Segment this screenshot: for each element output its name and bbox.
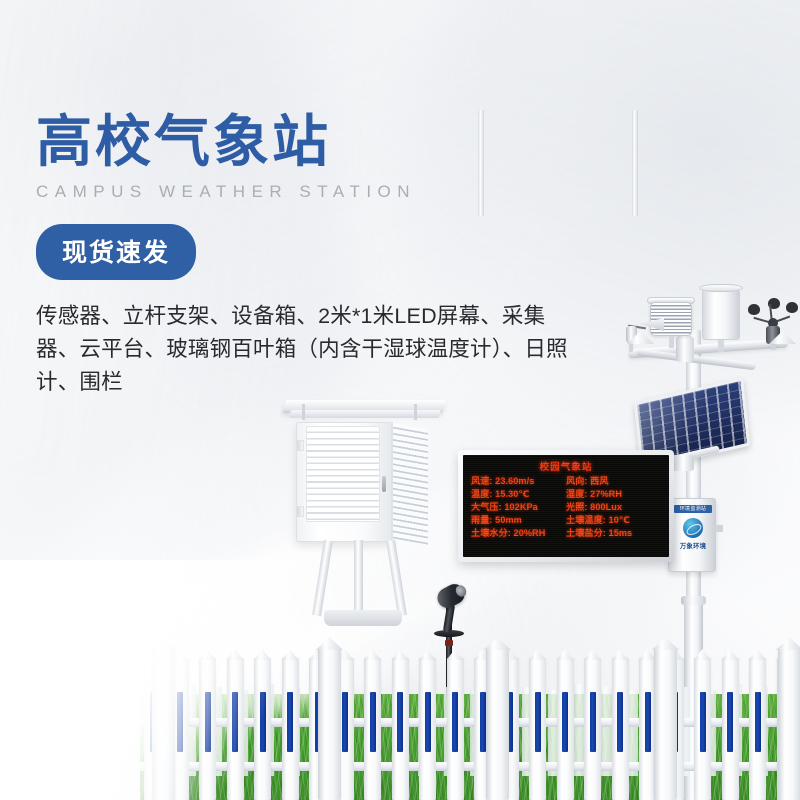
led-row: 雨量: 50mm 土壤温度: 10℃: [469, 514, 663, 527]
led-cell-illuminance: 光照: 800Lux: [566, 501, 663, 514]
led-row: 土壤水分: 20%RH 土壤盐分: 15ms: [469, 527, 663, 540]
enclosure-label: 环境监测站: [674, 505, 712, 513]
fence-picket-stripe: [370, 692, 376, 752]
shelter-door-handle: [382, 476, 386, 492]
fence-picket-stripe: [562, 692, 568, 752]
fence-picket-stripe: [397, 692, 403, 752]
fence-post: [654, 648, 677, 800]
fence-picket-stripe: [755, 692, 761, 752]
fence-post: [486, 648, 509, 800]
page-subtitle: CAMPUS WEATHER STATION: [36, 182, 636, 202]
fence-picket-stripe: [617, 692, 623, 752]
fence-picket-stripe: [590, 692, 596, 752]
led-title: 校园气象站: [469, 459, 663, 473]
fence-picket-stripe: [452, 692, 458, 752]
led-cell-wind-speed: 风速: 23.60m/s: [469, 475, 566, 488]
led-row: 风速: 23.60m/s 风向: 西风: [469, 475, 663, 488]
led-cell-pressure: 大气压: 102KPa: [469, 501, 566, 514]
equipment-enclosure: 环境监测站 万象环境: [668, 498, 716, 572]
fence-picket-stripe: [700, 692, 706, 752]
fence-picket-stripe: [535, 692, 541, 752]
fence-picket-stripe: [645, 692, 651, 752]
mast-hub: [676, 336, 694, 362]
led-cell-temperature: 温度: 15.30℃: [469, 488, 566, 501]
brand-globe-icon: [683, 518, 703, 538]
shelter-side-louvers: [392, 422, 428, 548]
rain-gauge-icon: [702, 288, 740, 340]
product-description: 传感器、立杆支架、设备箱、2米*1米LED屏幕、采集器、云平台、玻璃钢百叶箱（内…: [36, 300, 584, 398]
led-cell-wind-direction: 风向: 西风: [566, 475, 663, 488]
solar-panel-clamp: [672, 455, 694, 471]
status-badge: 现货速发: [36, 224, 196, 280]
mast-pole: [686, 330, 701, 630]
fence-post: [318, 648, 341, 800]
mast-collar: [681, 596, 706, 605]
led-screen: 校园气象站 风速: 23.60m/s 风向: 西风: [463, 455, 669, 557]
louvered-screen-shelter: [296, 414, 428, 546]
led-cell-rainfall: 雨量: 50mm: [469, 514, 566, 527]
led-cell-soil-temperature: 土壤温度: 10℃: [566, 514, 663, 527]
fence-post: [778, 648, 800, 800]
headline-block: 高校气象站 CAMPUS WEATHER STATION 现货速发 传感器、立杆…: [36, 112, 636, 398]
led-cell-soil-moisture: 土壤水分: 20%RH: [469, 527, 566, 540]
anemometer-icon: [748, 300, 798, 344]
product-banner: 环境监测站 万象环境: [0, 0, 800, 800]
led-readout-rows: 风速: 23.60m/s 风向: 西风 温度: 15.30℃: [469, 475, 663, 540]
shelter-door-louvers: [306, 426, 380, 522]
led-row: 温度: 15.30℃ 湿度: 27%RH: [469, 488, 663, 501]
fence-picket-stripe: [342, 692, 348, 752]
led-display-board: 校园气象站 风速: 23.60m/s 风向: 西风: [458, 450, 674, 562]
led-row: 大气压: 102KPa 光照: 800Lux: [469, 501, 663, 514]
enclosure-brand: 万象环境: [672, 541, 714, 550]
page-title: 高校气象站: [36, 112, 636, 172]
foreground-haze: [0, 620, 240, 800]
fence-picket-stripe: [727, 692, 733, 752]
fence-picket-stripe: [425, 692, 431, 752]
led-cell-humidity: 湿度: 27%RH: [566, 488, 663, 501]
shelter-base: [324, 610, 402, 626]
fence-picket-stripe: [480, 692, 486, 752]
led-cell-soil-salinity: 土壤盐分: 15ms: [566, 527, 663, 540]
